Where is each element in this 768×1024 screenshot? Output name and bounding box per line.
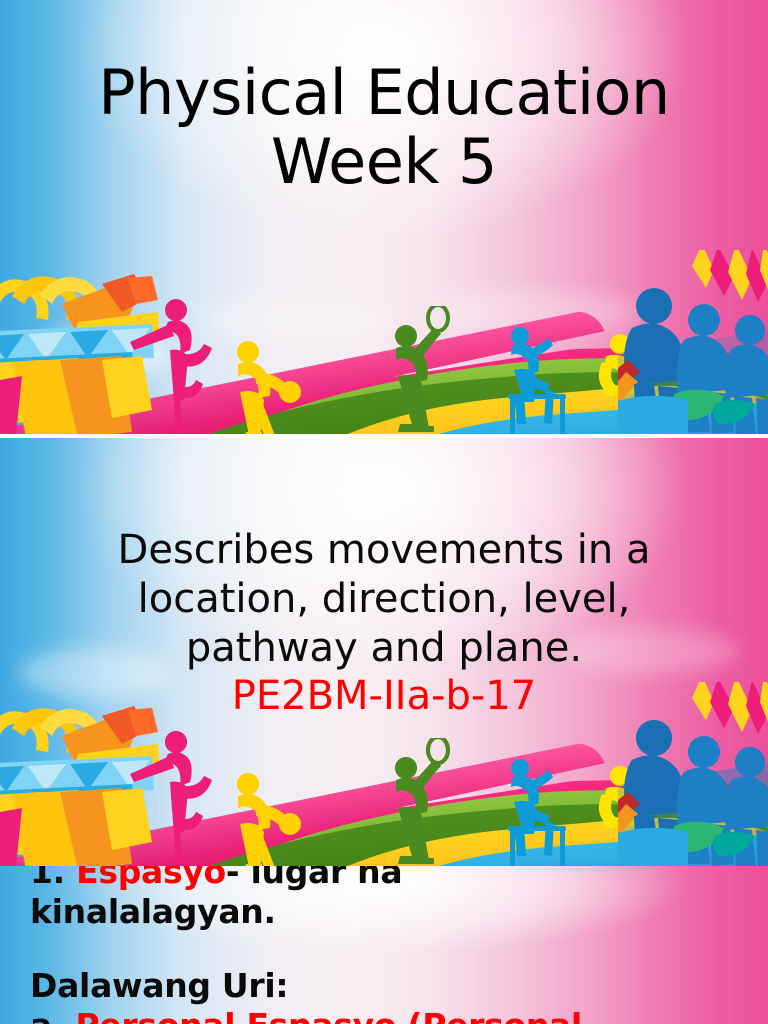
- body-line-2: kinalalagyan.: [30, 892, 750, 932]
- list-number: 1.: [30, 866, 65, 891]
- slide-1-title-block: Physical Education Week 5: [0, 58, 768, 197]
- term-highlight: Espasyo: [76, 866, 226, 891]
- dancer-pink-icon: [124, 726, 224, 866]
- body-spacer: [30, 933, 750, 966]
- body-line-3: Dalawang Uri:: [30, 966, 750, 1006]
- cyclists-blue-group-icon: [618, 682, 768, 866]
- hurdler-blue-icon: [486, 758, 596, 866]
- dancer-pink-icon: [124, 294, 224, 434]
- slides-scroll-page: Physical Education Week 5: [0, 0, 768, 1024]
- objective-line-3: pathway and plane.: [0, 624, 768, 673]
- subterm-highlight: Personal Espasyo (Personal: [75, 1006, 582, 1024]
- slide-3-content[interactable]: 1. Espasyo- lugar na kinalalagyan. Dalaw…: [0, 866, 768, 1024]
- slide-3-body-block: 1. Espasyo- lugar na kinalalagyan. Dalaw…: [30, 866, 750, 1024]
- list-letter: a.: [30, 1006, 64, 1024]
- term-definition: - lugar na: [226, 866, 402, 891]
- body-line-1: 1. Espasyo- lugar na: [30, 866, 750, 892]
- objective-line-2: location, direction, level,: [0, 575, 768, 624]
- tennis-player-green-icon: [370, 738, 480, 866]
- sports-band: [0, 250, 768, 434]
- hurdler-blue-icon: [486, 326, 596, 434]
- slide-1-title[interactable]: Physical Education Week 5: [0, 0, 768, 434]
- tennis-player-green-icon: [370, 306, 480, 434]
- objective-line-1: Describes movements in a: [0, 526, 768, 575]
- page-title-line-1: Physical Education: [0, 58, 768, 127]
- basketball-player-yellow-icon: [218, 772, 328, 866]
- slide-2-objective[interactable]: Describes movements in a location, direc…: [0, 438, 768, 866]
- sports-band: [0, 682, 768, 866]
- body-line-4: a. Personal Espasyo (Personal: [30, 1006, 750, 1024]
- cyclists-blue-group-icon: [618, 250, 768, 434]
- page-title-line-2: Week 5: [0, 127, 768, 196]
- basketball-player-yellow-icon: [218, 340, 328, 434]
